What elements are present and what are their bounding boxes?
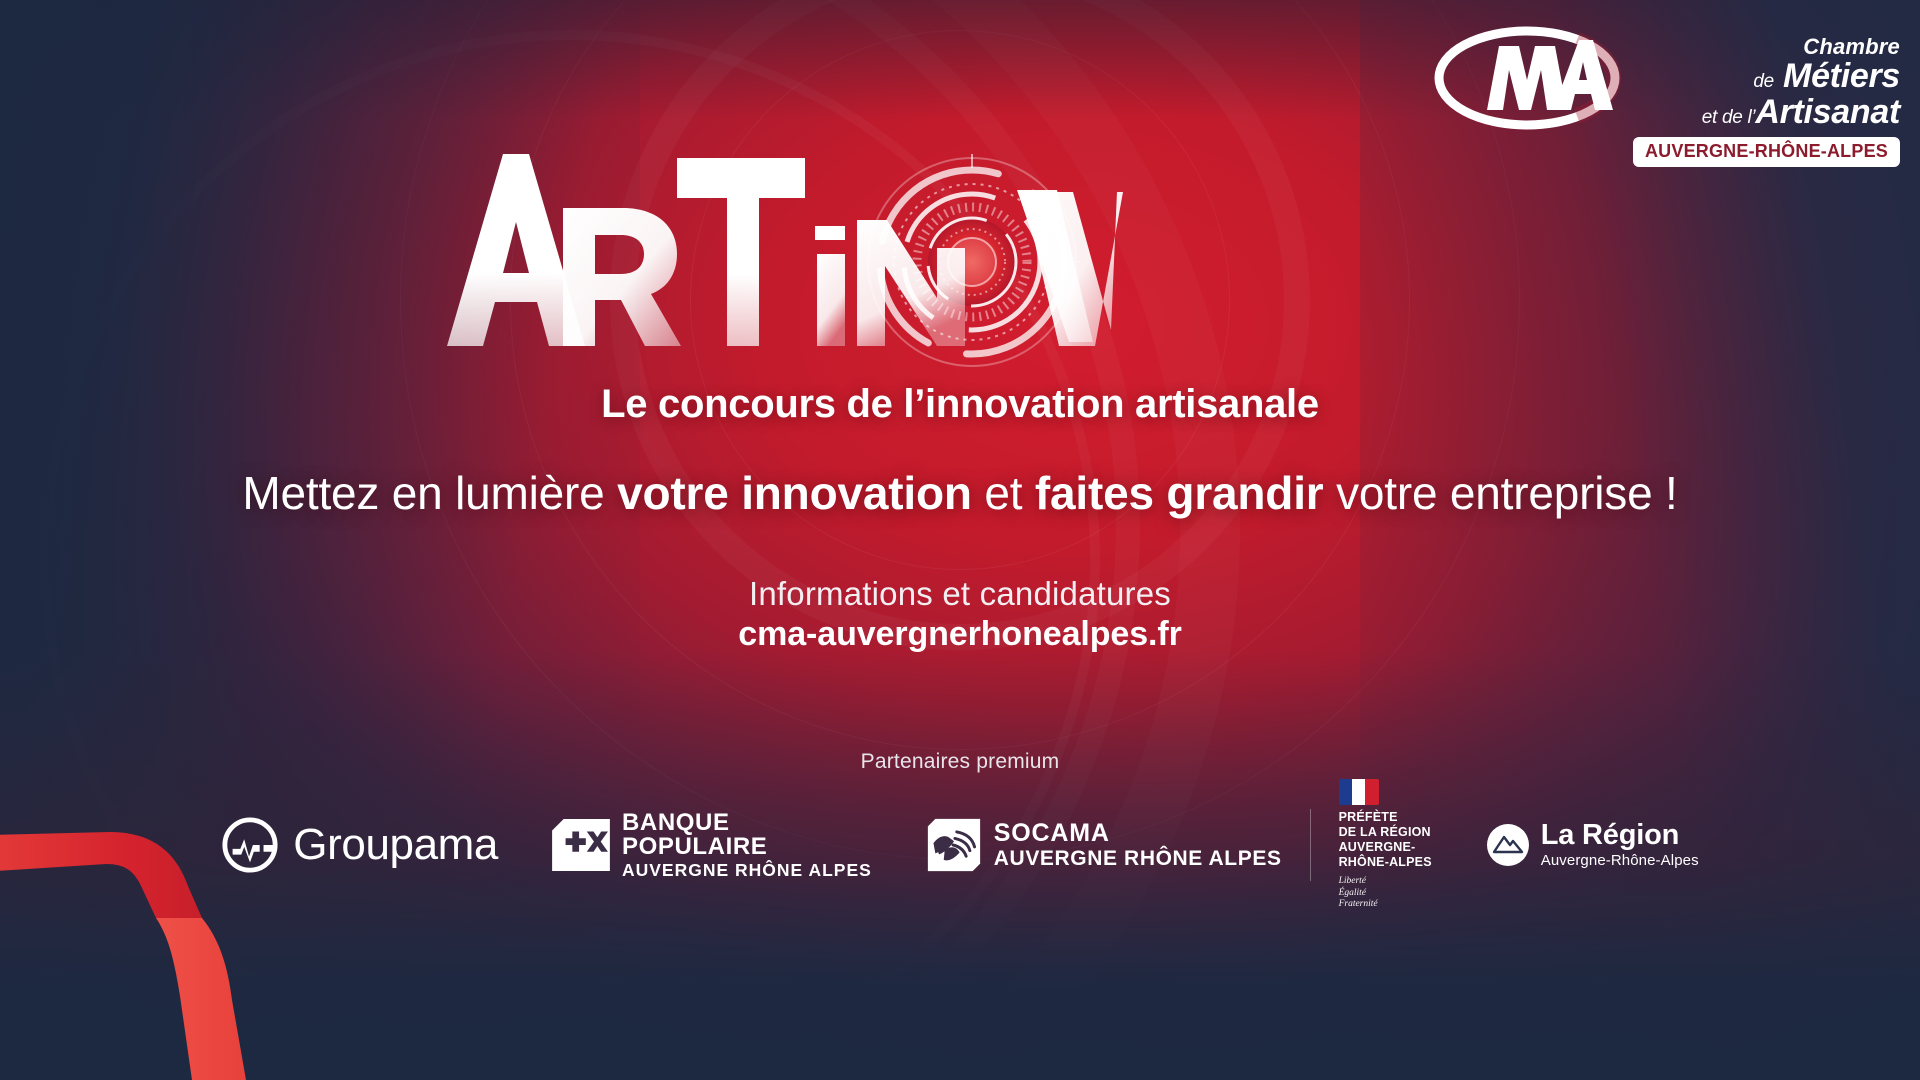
partners-row: Groupama BANQUE POPULAIRE AUVERGNE RHÔNE… bbox=[0, 790, 1920, 900]
artinov-wordmark-icon bbox=[445, 130, 1125, 360]
prefete-line2: DE LA RÉGION bbox=[1339, 825, 1431, 840]
cma-line2-small: de bbox=[1753, 71, 1774, 92]
socama-handshake-icon bbox=[926, 817, 982, 873]
partners-divider bbox=[1310, 809, 1311, 881]
groupama-circle-icon bbox=[221, 816, 279, 874]
artinov-logo bbox=[0, 130, 1920, 370]
french-flag-icon bbox=[1339, 779, 1379, 805]
prefete-motto: Liberté Égalité Fraternité bbox=[1339, 876, 1378, 912]
partner-socama[interactable]: SOCAMA AUVERGNE RHÔNE ALPES bbox=[926, 817, 1282, 873]
cma-line2-main: Métiers bbox=[1783, 57, 1900, 95]
motto-fraternite: Fraternité bbox=[1339, 899, 1378, 911]
la-region-line1: La Région bbox=[1541, 821, 1699, 851]
headline: Mettez en lumière votre innovation et fa… bbox=[0, 466, 1920, 520]
prefete-line3: AUVERGNE- bbox=[1339, 840, 1416, 855]
poster-canvas: Chambre de Métiers et de l’Artisanat AUV… bbox=[0, 0, 1920, 1080]
socama-line2: AUVERGNE RHÔNE ALPES bbox=[994, 847, 1282, 870]
cma-line3-main: Artisanat bbox=[1755, 93, 1900, 131]
partner-la-region[interactable]: La Région Auvergne-Rhône-Alpes bbox=[1486, 821, 1699, 869]
prefete-line4: RHÔNE-ALPES bbox=[1339, 855, 1432, 870]
partner-banque-populaire[interactable]: BANQUE POPULAIRE AUVERGNE RHÔNE ALPES bbox=[552, 811, 872, 880]
bp-line3: AUVERGNE RHÔNE ALPES bbox=[622, 862, 872, 880]
tagline: Le concours de l’innovation artisanale bbox=[0, 382, 1920, 427]
headline-part-3: faites grandir bbox=[1035, 467, 1324, 519]
partners-label: Partenaires premium bbox=[0, 750, 1920, 774]
socama-line1: SOCAMA bbox=[994, 820, 1282, 846]
cma-line3: et de l’Artisanat bbox=[1633, 95, 1900, 131]
motto-liberte: Liberté bbox=[1339, 876, 1378, 888]
mountain-circle-icon bbox=[1486, 823, 1530, 867]
la-region-line2: Auvergne-Rhône-Alpes bbox=[1541, 852, 1699, 869]
cma-line2: de Métiers bbox=[1633, 59, 1900, 95]
motto-egalite: Égalité bbox=[1339, 888, 1378, 900]
groupama-label: Groupama bbox=[293, 823, 498, 867]
website-url[interactable]: cma-auvergnerhonealpes.fr bbox=[0, 615, 1920, 654]
cma-line1: Chambre bbox=[1633, 36, 1900, 58]
cma-line3-small: et de l’ bbox=[1702, 107, 1756, 128]
bp-line2: POPULAIRE bbox=[622, 835, 872, 859]
partner-groupama[interactable]: Groupama bbox=[221, 816, 498, 874]
partner-prefete[interactable]: PRÉFÈTE DE LA RÉGION AUVERGNE- RHÔNE-ALP… bbox=[1339, 779, 1432, 912]
prefete-line1: PRÉFÈTE bbox=[1339, 810, 1398, 825]
headline-part-0: Mettez en lumière bbox=[242, 467, 617, 519]
info-label: Informations et candidatures bbox=[0, 575, 1920, 613]
headline-part-1: votre innovation bbox=[617, 467, 972, 519]
cma-monogram-icon bbox=[1427, 18, 1627, 138]
headline-part-2: et bbox=[972, 467, 1035, 519]
bp-line1: BANQUE bbox=[622, 811, 872, 835]
banque-populaire-plus-x-icon bbox=[552, 819, 610, 871]
headline-part-4: votre entreprise ! bbox=[1323, 467, 1677, 519]
